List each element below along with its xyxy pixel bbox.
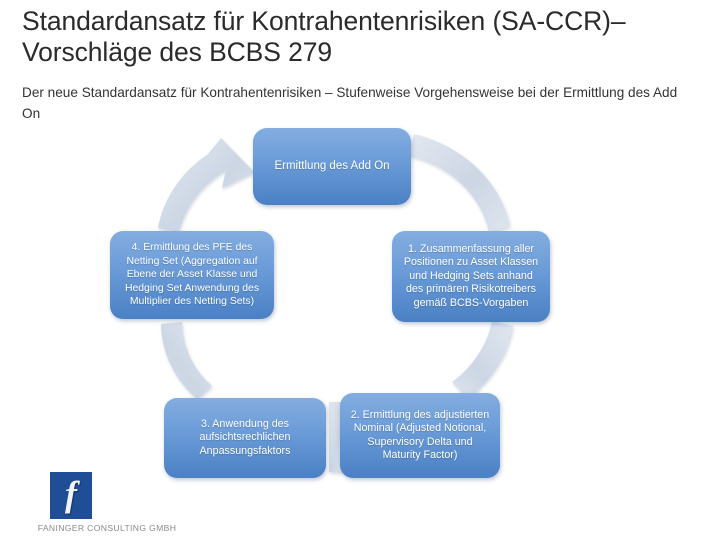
cycle-node-step-3[interactable]: 3. Anwendung des aufsichtsrechlichen Anp…: [164, 398, 326, 478]
title-block: Standardansatz für Kontrahentenrisiken (…: [22, 6, 698, 68]
slide-canvas: Standardansatz für Kontrahentenrisiken (…: [0, 0, 720, 540]
cycle-node-step-4[interactable]: 4. Ermittlung des PFE des Netting Set (A…: [110, 231, 274, 319]
logo-company-name: FANINGER CONSULTING GMBH: [22, 523, 192, 533]
cycle-node-center[interactable]: Ermittlung des Add On: [253, 128, 411, 205]
page-title: Standardansatz für Kontrahentenrisiken (…: [22, 6, 698, 68]
cycle-node-step-2[interactable]: 2. Ermittlung des adjustierten Nominal (…: [340, 393, 500, 478]
arc-center-to-step1: [408, 134, 510, 232]
cycle-diagram: Ermittlung des Add On 1. Zusammenfassung…: [0, 110, 720, 500]
logo-f-glyph: f: [65, 476, 77, 512]
arc-step1-to-step2: [452, 321, 513, 398]
cycle-node-step-1[interactable]: 1. Zusammenfassung aller Positionen zu A…: [392, 231, 550, 322]
arc-step3-to-step4: [161, 322, 212, 399]
arc-step4-to-center-arrow: [158, 138, 254, 232]
company-logo: f FANINGER CONSULTING GMBH: [22, 472, 192, 534]
logo-mark-icon: f: [50, 472, 92, 519]
